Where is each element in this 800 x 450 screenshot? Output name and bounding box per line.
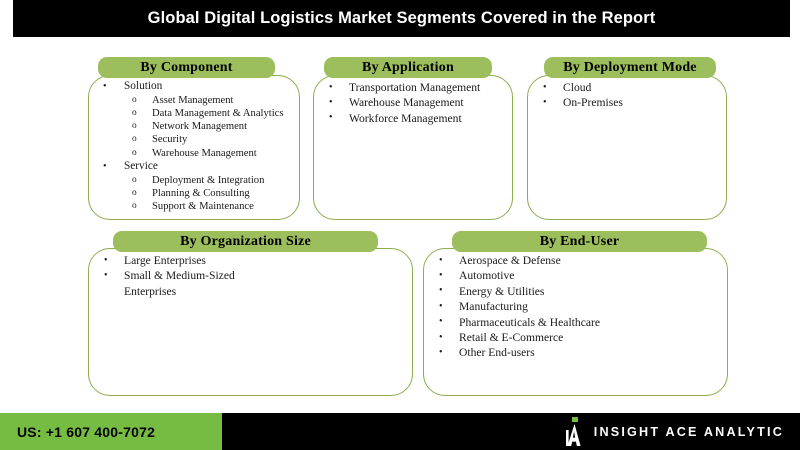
brand-name: INSIGHT ACE ANALYTIC xyxy=(594,425,784,439)
sub-item-label: Support & Maintenance xyxy=(152,201,254,212)
footer-bar: US: +1 607 400-7072 INSIGHT ACE ANALYTIC xyxy=(0,413,800,450)
card-title-label: By End-User xyxy=(540,234,620,250)
list-item: Solution Asset Management Data Managemen… xyxy=(88,80,300,160)
card-title-by-deployment-mode: By Deployment Mode xyxy=(544,57,716,78)
card-title-label: By Component xyxy=(140,60,232,76)
list-item: Pharmaceuticals & Healthcare xyxy=(423,315,601,330)
list-item: Workforce Management xyxy=(313,111,513,126)
card-body-by-organization-size: Large Enterprises Small & Medium-Sized E… xyxy=(88,253,413,299)
list-item-label: Pharmaceuticals & Healthcare xyxy=(459,316,600,329)
sub-item-label: Warehouse Management xyxy=(152,148,257,159)
contact-phone[interactable]: US: +1 607 400-7072 xyxy=(0,424,155,440)
application-list: Transportation Management Warehouse Mana… xyxy=(313,80,513,126)
card-title-by-component: By Component xyxy=(98,57,275,78)
list-item: Data Management & Analytics xyxy=(124,107,300,120)
list-item: Deployment & Integration xyxy=(124,174,300,187)
card-title-label: By Organization Size xyxy=(180,234,311,250)
list-item: Retail & E-Commerce xyxy=(423,330,728,345)
card-title-by-organization-size: By Organization Size xyxy=(113,231,378,252)
card-body-by-component: Solution Asset Management Data Managemen… xyxy=(88,80,300,214)
end-user-list: Aerospace & Defense Automotive Energy & … xyxy=(423,253,728,361)
sub-item-label: Security xyxy=(152,134,187,145)
list-item: On-Premises xyxy=(527,95,727,110)
list-item: Other End-users xyxy=(423,345,728,360)
logo-green-square-icon xyxy=(572,417,578,423)
list-item: Large Enterprises xyxy=(88,253,413,268)
group-label: Service xyxy=(124,160,158,172)
list-item: Aerospace & Defense xyxy=(423,253,728,268)
group-label: Solution xyxy=(124,80,162,92)
card-body-by-application: Transportation Management Warehouse Mana… xyxy=(313,80,513,126)
list-item: Planning & Consulting xyxy=(124,187,300,200)
list-item: Transportation Management xyxy=(313,80,513,95)
list-item: Manufacturing xyxy=(423,299,728,314)
card-body-by-deployment-mode: Cloud On-Premises xyxy=(527,80,727,111)
list-item-label: Small & Medium-Sized Enterprises xyxy=(124,269,235,297)
list-item: Support & Maintenance xyxy=(124,200,300,213)
component-solution-sublist: Asset Management Data Management & Analy… xyxy=(124,94,300,160)
footer-phone-block: US: +1 607 400-7072 xyxy=(0,413,222,450)
component-service-sublist: Deployment & Integration Planning & Cons… xyxy=(124,174,300,214)
sub-item-label: Data Management & Analytics xyxy=(152,108,284,119)
list-item: Asset Management xyxy=(124,94,300,107)
organization-size-list: Large Enterprises Small & Medium-Sized E… xyxy=(88,253,413,299)
list-item: Service Deployment & Integration Plannin… xyxy=(88,160,300,213)
list-item: Small & Medium-Sized Enterprises xyxy=(88,268,274,299)
sub-item-label: Asset Management xyxy=(152,95,234,106)
sub-item-label: Deployment & Integration xyxy=(152,175,264,186)
list-item: Warehouse Management xyxy=(124,147,300,160)
header-bar: Global Digital Logistics Market Segments… xyxy=(13,0,790,37)
component-group-list: Solution Asset Management Data Managemen… xyxy=(88,80,300,214)
brand-logo-group: INSIGHT ACE ANALYTIC xyxy=(566,413,784,450)
list-item: Warehouse Management xyxy=(313,95,513,110)
deployment-mode-list: Cloud On-Premises xyxy=(527,80,727,111)
card-title-by-end-user: By End-User xyxy=(452,231,707,252)
logo-letter-a-icon xyxy=(566,424,583,446)
card-title-by-application: By Application xyxy=(324,57,492,78)
list-item: Network Management xyxy=(124,120,300,133)
list-item: Energy & Utilities xyxy=(423,284,728,299)
insightace-a-logo-icon xyxy=(566,417,583,447)
list-item: Cloud xyxy=(527,80,727,95)
sub-item-label: Planning & Consulting xyxy=(152,188,250,199)
card-title-label: By Deployment Mode xyxy=(563,60,696,76)
sub-item-label: Network Management xyxy=(152,121,247,132)
card-title-label: By Application xyxy=(362,60,454,76)
list-item: Automotive xyxy=(423,268,728,283)
card-body-by-end-user: Aerospace & Defense Automotive Energy & … xyxy=(423,253,728,361)
page-title: Global Digital Logistics Market Segments… xyxy=(148,9,656,28)
list-item: Security xyxy=(124,133,300,146)
